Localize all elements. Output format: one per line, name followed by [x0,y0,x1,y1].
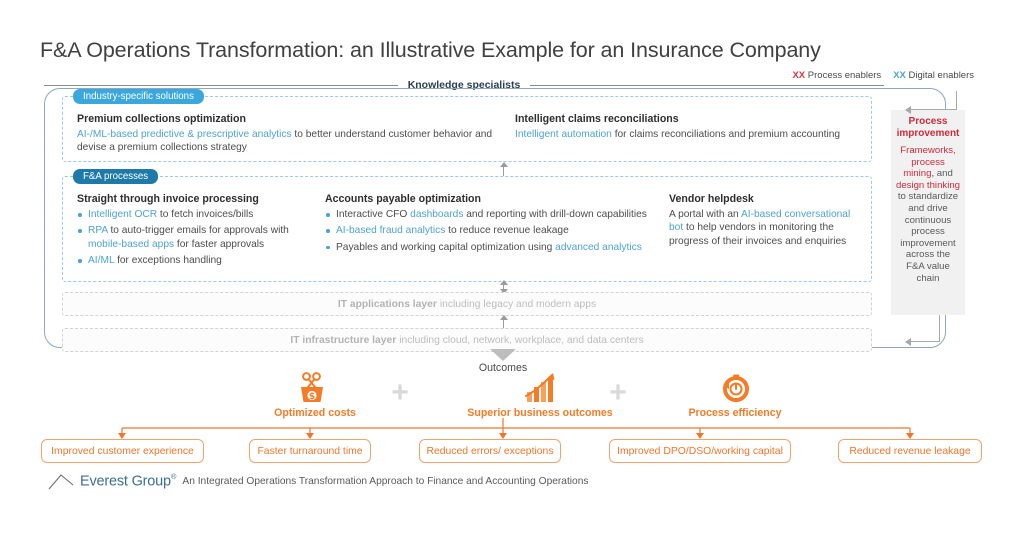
process-improvement-connector-bottom [903,315,959,345]
page-title: F&A Operations Transformation: an Illust… [40,38,970,63]
column-bullets: Intelligent OCR to fetch invoices/billsR… [77,208,323,268]
solution-title: Intelligent claims reconciliations [515,113,865,125]
body-text: for claims reconciliations and premium a… [612,129,840,140]
bullet-item: AI-based fraud analytics to reduce reven… [325,224,665,237]
stopwatch-icon [640,374,830,404]
outcome-label: Superior business outcomes [445,407,635,419]
bullet-item: Interactive CFO dashboards and reporting… [325,208,665,221]
process-improvement-body: Frameworks, process mining, and design t… [896,145,960,284]
everest-group-logo-icon [48,472,74,490]
it-layer-rest: including legacy and modern apps [440,299,596,310]
process-improvement-panel: Process improvement Frameworks, process … [891,110,965,315]
column-title: Vendor helpdesk [669,193,865,205]
bullet-item: AI/ML for exceptions handling [77,254,323,267]
svg-text:$: $ [309,392,315,402]
body-text: to auto-trigger emails for approvals wit… [108,225,289,236]
body-text: to help vendors in monitoring the progre… [669,222,846,246]
enabler-term: AI/ML [88,255,114,266]
fa-processes-tab: F&A processes [73,169,158,184]
process-column-invoice: Straight through invoice processing Inte… [77,193,323,271]
body-text: to fetch invoices/bills [157,209,253,220]
result-box-turnaround-time[interactable]: Faster turnaround time [249,439,371,463]
registered-mark: ® [171,472,177,481]
body-text: Payables and working capital optimizatio… [336,242,555,253]
bullet-item: RPA to auto-trigger emails for approvals… [77,224,323,251]
industry-solutions-panel: Industry-specific solutions Premium coll… [62,96,872,162]
footer: Everest Group® An Integrated Operations … [48,472,588,490]
outcome-plus-1: + [370,380,430,406]
everest-group-wordmark: Everest Group® [80,472,176,490]
column-title: Accounts payable optimization [325,193,665,205]
enabler-term: advanced analytics [555,242,642,253]
bullet-item: Intelligent OCR to fetch invoices/bills [77,208,323,221]
it-layer-strong: IT applications layer [338,299,437,310]
header-rule-right [530,85,884,86]
body-text: for exceptions handling [114,255,222,266]
solution-body: Intelligent automation for claims reconc… [515,128,865,141]
enabler-term: mobile-based apps [88,239,174,250]
header-rule-left [44,85,398,86]
column-body: A portal with an AI-based conversational… [669,208,865,248]
body-text: A portal with an [669,209,741,220]
fa-processes-panel: F&A processes Straight through invoice p… [62,176,872,282]
body-text: , and [931,168,952,179]
legend-digital-marker: XX [893,70,906,81]
enabler-term: RPA [88,225,108,236]
result-box-reduced-errors[interactable]: Reduced errors/ exceptions [419,439,561,463]
column-bullets: Interactive CFO dashboards and reporting… [325,208,665,254]
outcomes-row: $ Optimized costs + Superior business ou… [40,374,980,420]
brand-name: Everest Group [80,473,171,489]
solution-title: Premium collections optimization [77,113,497,125]
process-improvement-title: Process improvement [896,116,960,140]
outcome-plus-2: + [588,380,648,406]
it-applications-layer: IT applications layer including legacy a… [62,292,872,316]
body-text: to reduce revenue leakage [445,225,568,236]
process-column-accounts-payable: Accounts payable optimization Interactiv… [325,193,665,257]
legend-digital-enablers: XX Digital enablers [893,70,974,81]
legend-digital-label: Digital enablers [909,70,974,81]
enabler-term: design thinking [896,180,960,191]
outcomes-arrow-icon [490,349,516,361]
result-box-dpo-dso[interactable]: Improved DPO/DSO/working capital [609,439,791,463]
enabler-term: AI-based fraud analytics [336,225,445,236]
slide-canvas: F&A Operations Transformation: an Illust… [0,0,1022,535]
process-column-vendor-helpdesk: Vendor helpdesk A portal with an AI-base… [669,193,865,248]
outcome-process-efficiency: Process efficiency [640,374,830,419]
body-text: and reporting with drill-down capabiliti… [463,209,646,220]
it-infrastructure-layer: IT infrastructure layer including cloud,… [62,328,872,352]
solution-body: AI-/ML-based predictive & prescriptive a… [77,128,497,155]
process-improvement-connector-top [903,91,959,113]
outcome-label: Process efficiency [640,407,830,419]
column-title: Straight through invoice processing [77,193,323,205]
solution-premium-collections: Premium collections optimization AI-/ML-… [77,113,497,155]
body-text: for faster approvals [174,239,264,250]
it-layer-rest: including cloud, network, workplace, and… [399,335,643,346]
result-box-revenue-leakage[interactable]: Reduced revenue leakage [838,439,982,463]
body-text: Interactive CFO [336,209,410,220]
body-text: to standardize and drive continuous proc… [898,191,958,283]
industry-solutions-tab: Industry-specific solutions [73,89,204,104]
enabler-term: Intelligent automation [515,129,612,140]
enabler-term: AI-/ML-based predictive & prescriptive a… [77,129,292,140]
result-box-customer-experience[interactable]: Improved customer experience [41,439,204,463]
it-layer-strong: IT infrastructure layer [290,335,396,346]
footer-caption: An Integrated Operations Transformation … [182,475,588,490]
solution-claims-reconciliations: Intelligent claims reconciliations Intel… [515,113,865,141]
bullet-item: Payables and working capital optimizatio… [325,241,665,254]
enabler-term: Intelligent OCR [88,209,157,220]
enabler-term: dashboards [410,209,463,220]
outcome-label: Optimized costs [230,407,400,419]
